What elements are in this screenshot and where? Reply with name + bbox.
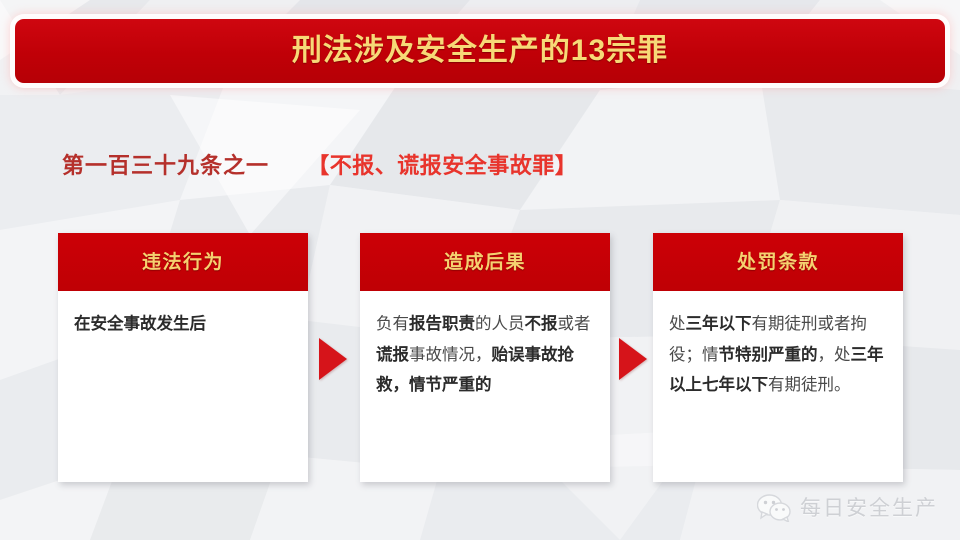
watermark-label: 每日安全生产 (800, 498, 938, 519)
card-header-label: 处罚条款 (737, 253, 819, 272)
text-run: 谎报 (376, 346, 409, 364)
card-consequence: 造成后果 负有报告职责的人员不报或者谎报事故情况，贻误事故抢救，情节严重的 (360, 233, 610, 482)
card-penalty: 处罚条款 处三年以下有期徒刑或者拘役；情节特别严重的，处三年以上七年以下有期徒刑… (653, 233, 903, 482)
crime-name-label: 【不报、谎报安全事故罪】 (307, 153, 577, 178)
text-run: 不报 (525, 315, 558, 333)
card-header-illegal-act: 违法行为 (58, 233, 308, 291)
text-run: 负有 (376, 315, 409, 333)
text-run: 三年以下 (686, 315, 752, 333)
text-run: 事故情况， (409, 346, 492, 364)
subtitle-row: 第一百三十九条之一 【不报、谎报安全事故罪】 (62, 155, 577, 177)
card-header-label: 违法行为 (142, 253, 224, 272)
arrow-right-icon (619, 338, 647, 380)
page-title: 刑法涉及安全生产的13宗罪 (292, 36, 668, 66)
text-run: 的人员 (475, 315, 525, 333)
text-run: 处 (669, 315, 686, 333)
watermark: 每日安全生产 (757, 494, 938, 522)
card-body-penalty: 处三年以下有期徒刑或者拘役；情节特别严重的，处三年以上七年以下有期徒刑。 (653, 291, 903, 411)
article-number-label: 第一百三十九条之一 (62, 153, 269, 178)
card-header-penalty: 处罚条款 (653, 233, 903, 291)
text-run: 或者 (558, 315, 591, 333)
text-run: 在安全事故发生后 (74, 315, 206, 333)
title-banner: 刑法涉及安全生产的13宗罪 (15, 19, 945, 83)
card-body-illegal-act: 在安全事故发生后 (58, 291, 308, 350)
text-run: ，处 (818, 346, 851, 364)
text-run: 报告职责 (409, 315, 475, 333)
text-run: 有期徒刑。 (768, 376, 851, 394)
card-header-label: 造成后果 (444, 253, 526, 272)
text-run: 节特别严重的 (719, 346, 818, 364)
slide-canvas: 刑法涉及安全生产的13宗罪 第一百三十九条之一 【不报、谎报安全事故罪】 违法行… (0, 0, 960, 540)
wechat-icon (757, 494, 791, 522)
card-illegal-act: 违法行为 在安全事故发生后 (58, 233, 308, 482)
card-body-consequence: 负有报告职责的人员不报或者谎报事故情况，贻误事故抢救，情节严重的 (360, 291, 610, 411)
arrow-right-icon (319, 338, 347, 380)
card-header-consequence: 造成后果 (360, 233, 610, 291)
